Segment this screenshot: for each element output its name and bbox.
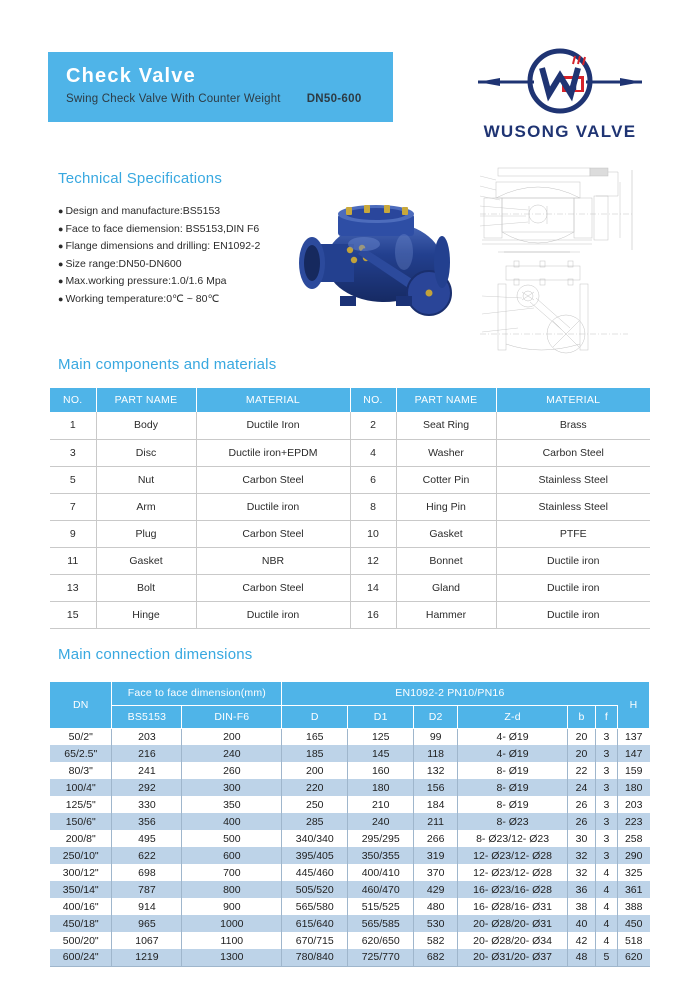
- cell-dn: 250/10": [50, 847, 112, 864]
- cell-d1: 240: [348, 813, 414, 830]
- logo-mark-icon: [470, 42, 650, 120]
- cell-no: 9: [50, 520, 96, 547]
- cell-f: 3: [595, 813, 617, 830]
- cell-no: 6: [350, 466, 396, 493]
- cell-part: Plug: [96, 520, 196, 547]
- components-table: NO. PART NAME MATERIAL NO. PART NAME MAT…: [50, 388, 650, 629]
- cell-d2: 132: [414, 762, 458, 779]
- cell-b: 32: [568, 847, 596, 864]
- table-row: 500/20" 1067 1100 670/715 620/650 582 20…: [50, 932, 650, 949]
- cell-d: 395/405: [282, 847, 348, 864]
- table-row: 7 Arm Ductile iron 8 Hing Pin Stainless …: [50, 493, 650, 520]
- cell-mat: Ductile iron: [496, 601, 650, 628]
- cell-d2: 682: [414, 949, 458, 966]
- cell-b: 30: [568, 830, 596, 847]
- cell-zd: 8- Ø23/12- Ø23: [458, 830, 568, 847]
- col-no-2: NO.: [350, 388, 396, 412]
- cell-din: 350: [182, 796, 282, 813]
- cell-d: 615/640: [282, 915, 348, 932]
- cell-d1: 160: [348, 762, 414, 779]
- table-row: 600/24" 1219 1300 780/840 725/770 682 20…: [50, 949, 650, 966]
- bullet-icon: ●: [58, 291, 63, 309]
- cell-zd: 16- Ø28/16- Ø31: [458, 898, 568, 915]
- cell-d1: 620/650: [348, 932, 414, 949]
- spec-item: ● Size range:DN50-DN600: [58, 256, 308, 274]
- cell-din: 260: [182, 762, 282, 779]
- cell-h: 290: [617, 847, 649, 864]
- col-part-1: PART NAME: [96, 388, 196, 412]
- cell-dn: 400/16": [50, 898, 112, 915]
- cell-part: Hing Pin: [396, 493, 496, 520]
- cell-bs: 330: [112, 796, 182, 813]
- table-row: 400/16" 914 900 565/580 515/525 480 16- …: [50, 898, 650, 915]
- col-f: f: [595, 705, 617, 728]
- cell-mat: Carbon Steel: [196, 520, 350, 547]
- col-mat-2: MATERIAL: [496, 388, 650, 412]
- cell-h: 450: [617, 915, 649, 932]
- cell-no: 2: [350, 412, 396, 439]
- cell-h: 361: [617, 881, 649, 898]
- cell-din: 200: [182, 728, 282, 745]
- cell-b: 36: [568, 881, 596, 898]
- product-photo: [292, 192, 468, 328]
- cell-mat: Ductile iron: [196, 493, 350, 520]
- cell-part: Disc: [96, 439, 196, 466]
- cell-dn: 300/12": [50, 864, 112, 881]
- table-row: 450/18" 965 1000 615/640 565/585 530 20-…: [50, 915, 650, 932]
- cell-dn: 200/8": [50, 830, 112, 847]
- cell-bs: 914: [112, 898, 182, 915]
- cell-din: 400: [182, 813, 282, 830]
- cell-zd: 12- Ø23/12- Ø28: [458, 864, 568, 881]
- cell-zd: 20- Ø28/20- Ø31: [458, 915, 568, 932]
- cell-f: 4: [595, 864, 617, 881]
- cell-d: 220: [282, 779, 348, 796]
- cell-f: 3: [595, 830, 617, 847]
- cell-zd: 20- Ø28/20- Ø34: [458, 932, 568, 949]
- cell-zd: 8- Ø23: [458, 813, 568, 830]
- cell-din: 800: [182, 881, 282, 898]
- cell-bs: 203: [112, 728, 182, 745]
- specifications-heading: Technical Specifications: [58, 170, 222, 187]
- dimensions-header-row-1: DN Face to face dimension(mm) EN1092-2 P…: [50, 682, 650, 705]
- cell-din: 600: [182, 847, 282, 864]
- cell-zd: 4- Ø19: [458, 728, 568, 745]
- cell-d: 250: [282, 796, 348, 813]
- cell-d1: 350/355: [348, 847, 414, 864]
- table-row: 13 Bolt Carbon Steel 14 Gland Ductile ir…: [50, 574, 650, 601]
- cell-b: 40: [568, 915, 596, 932]
- cell-zd: 12- Ø23/12- Ø28: [458, 847, 568, 864]
- cell-d1: 295/295: [348, 830, 414, 847]
- cell-h: 258: [617, 830, 649, 847]
- cell-dn: 80/3": [50, 762, 112, 779]
- cell-no: 4: [350, 439, 396, 466]
- cell-part: Nut: [96, 466, 196, 493]
- bullet-icon: ●: [58, 273, 63, 291]
- cell-d2: 370: [414, 864, 458, 881]
- cell-b: 22: [568, 762, 596, 779]
- cell-d: 185: [282, 745, 348, 762]
- dimensions-header-row-2: BS5153 DIN-F6 D D1 D2 Z-d b f: [50, 705, 650, 728]
- cell-b: 32: [568, 864, 596, 881]
- cell-bs: 622: [112, 847, 182, 864]
- cell-no: 11: [50, 547, 96, 574]
- cell-f: 3: [595, 728, 617, 745]
- table-row: 5 Nut Carbon Steel 6 Cotter Pin Stainles…: [50, 466, 650, 493]
- spec-text: Working temperature:0℃ ~ 80℃: [65, 291, 219, 309]
- table-row: 150/6" 356 400 285 240 211 8- Ø23 26 3 2…: [50, 813, 650, 830]
- cell-d2: 211: [414, 813, 458, 830]
- cell-f: 4: [595, 898, 617, 915]
- cell-mat: Ductile Iron: [196, 412, 350, 439]
- sectional-drawing: [472, 162, 648, 262]
- spec-text: Max.working pressure:1.0/1.6 Mpa: [65, 273, 226, 291]
- cell-d2: 582: [414, 932, 458, 949]
- cell-d2: 156: [414, 779, 458, 796]
- cell-mat: PTFE: [496, 520, 650, 547]
- table-row: 250/10" 622 600 395/405 350/355 319 12- …: [50, 847, 650, 864]
- cell-f: 4: [595, 915, 617, 932]
- cell-dn: 100/4": [50, 779, 112, 796]
- title-banner: Check Valve Swing Check Valve With Count…: [48, 52, 393, 122]
- cell-b: 24: [568, 779, 596, 796]
- cell-mat: Ductile iron: [196, 601, 350, 628]
- spec-text: Flange dimensions and drilling: EN1092-2: [65, 238, 260, 256]
- col-part-2: PART NAME: [396, 388, 496, 412]
- cell-d: 445/460: [282, 864, 348, 881]
- cell-d: 340/340: [282, 830, 348, 847]
- cell-zd: 4- Ø19: [458, 745, 568, 762]
- cell-b: 26: [568, 813, 596, 830]
- cell-dn: 150/6": [50, 813, 112, 830]
- table-row: 1 Body Ductile Iron 2 Seat Ring Brass: [50, 412, 650, 439]
- cell-d: 565/580: [282, 898, 348, 915]
- cell-f: 3: [595, 745, 617, 762]
- page-title: Check Valve: [66, 64, 393, 88]
- bullet-icon: ●: [58, 238, 63, 256]
- cell-d: 670/715: [282, 932, 348, 949]
- cell-part: Arm: [96, 493, 196, 520]
- cell-bs: 965: [112, 915, 182, 932]
- table-row: 15 Hinge Ductile iron 16 Hammer Ductile …: [50, 601, 650, 628]
- company-logo: WUSONG VALVE: [470, 42, 650, 142]
- cell-f: 5: [595, 949, 617, 966]
- cell-d: 285: [282, 813, 348, 830]
- cell-din: 1100: [182, 932, 282, 949]
- col-no-1: NO.: [50, 388, 96, 412]
- cell-part: Cotter Pin: [396, 466, 496, 493]
- cell-din: 240: [182, 745, 282, 762]
- banner-subtitle-row: Swing Check Valve With Counter Weight DN…: [66, 93, 393, 105]
- col-d2: D2: [414, 705, 458, 728]
- table-row: 125/5" 330 350 250 210 184 8- Ø19 26 3 2…: [50, 796, 650, 813]
- col-mat-1: MATERIAL: [196, 388, 350, 412]
- cell-part: Hinge: [96, 601, 196, 628]
- cell-no: 13: [50, 574, 96, 601]
- spec-item: ● Face to face diemension: BS5153,DIN F6: [58, 221, 308, 239]
- cell-dn: 450/18": [50, 915, 112, 932]
- cell-d1: 210: [348, 796, 414, 813]
- cell-bs: 241: [112, 762, 182, 779]
- cell-dn: 500/20": [50, 932, 112, 949]
- cell-h: 223: [617, 813, 649, 830]
- cell-zd: 8- Ø19: [458, 762, 568, 779]
- cell-part: Body: [96, 412, 196, 439]
- col-din-f6: DIN-F6: [182, 705, 282, 728]
- cell-bs: 1067: [112, 932, 182, 949]
- cell-b: 38: [568, 898, 596, 915]
- cell-d1: 565/585: [348, 915, 414, 932]
- table-row: 9 Plug Carbon Steel 10 Gasket PTFE: [50, 520, 650, 547]
- side-view-drawing: [478, 248, 644, 356]
- cell-b: 26: [568, 796, 596, 813]
- cell-d: 505/520: [282, 881, 348, 898]
- col-b: b: [568, 705, 596, 728]
- cell-zd: 16- Ø23/16- Ø28: [458, 881, 568, 898]
- cell-mat: Carbon Steel: [196, 466, 350, 493]
- cell-no: 12: [350, 547, 396, 574]
- cell-h: 388: [617, 898, 649, 915]
- cell-d2: 530: [414, 915, 458, 932]
- table-row: 11 Gasket NBR 12 Bonnet Ductile iron: [50, 547, 650, 574]
- bullet-icon: ●: [58, 221, 63, 239]
- cell-no: 16: [350, 601, 396, 628]
- cell-mat: Ductile iron: [496, 574, 650, 601]
- cell-no: 15: [50, 601, 96, 628]
- table-row: 50/2" 203 200 165 125 99 4- Ø19 20 3 137: [50, 728, 650, 745]
- cell-d1: 180: [348, 779, 414, 796]
- cell-h: 518: [617, 932, 649, 949]
- cell-h: 203: [617, 796, 649, 813]
- cell-d2: 184: [414, 796, 458, 813]
- cell-d1: 515/525: [348, 898, 414, 915]
- cell-no: 5: [50, 466, 96, 493]
- col-group-face: Face to face dimension(mm): [112, 682, 282, 705]
- cell-f: 3: [595, 762, 617, 779]
- spec-item: ● Design and manufacture:BS5153: [58, 203, 308, 221]
- cell-f: 3: [595, 796, 617, 813]
- cell-no: 3: [50, 439, 96, 466]
- table-row: 65/2.5" 216 240 185 145 118 4- Ø19 20 3 …: [50, 745, 650, 762]
- table-row: 3 Disc Ductile iron+EPDM 4 Washer Carbon…: [50, 439, 650, 466]
- cell-bs: 698: [112, 864, 182, 881]
- cell-h: 620: [617, 949, 649, 966]
- bullet-icon: ●: [58, 203, 63, 221]
- cell-b: 48: [568, 949, 596, 966]
- table-row: 350/14" 787 800 505/520 460/470 429 16- …: [50, 881, 650, 898]
- spec-text: Face to face diemension: BS5153,DIN F6: [65, 221, 259, 239]
- table-row: 80/3" 241 260 200 160 132 8- Ø19 22 3 15…: [50, 762, 650, 779]
- cell-bs: 1219: [112, 949, 182, 966]
- col-d1: D1: [348, 705, 414, 728]
- cell-mat: Ductile iron: [496, 547, 650, 574]
- cell-d1: 400/410: [348, 864, 414, 881]
- cell-bs: 495: [112, 830, 182, 847]
- cell-part: Washer: [396, 439, 496, 466]
- cell-f: 3: [595, 847, 617, 864]
- cell-d2: 480: [414, 898, 458, 915]
- dimensions-table: DN Face to face dimension(mm) EN1092-2 P…: [50, 682, 650, 967]
- banner-subtitle: Swing Check Valve With Counter Weight: [66, 93, 281, 105]
- cell-h: 159: [617, 762, 649, 779]
- spec-item: ● Working temperature:0℃ ~ 80℃: [58, 291, 308, 309]
- cell-h: 137: [617, 728, 649, 745]
- dimensions-heading: Main connection dimensions: [58, 646, 252, 663]
- cell-dn: 600/24": [50, 949, 112, 966]
- cell-d2: 319: [414, 847, 458, 864]
- col-group-en: EN1092-2 PN10/PN16: [282, 682, 618, 705]
- cell-d2: 118: [414, 745, 458, 762]
- cell-d2: 266: [414, 830, 458, 847]
- cell-no: 1: [50, 412, 96, 439]
- col-d: D: [282, 705, 348, 728]
- cell-part: Bolt: [96, 574, 196, 601]
- cell-f: 4: [595, 932, 617, 949]
- table-row: 300/12" 698 700 445/460 400/410 370 12- …: [50, 864, 650, 881]
- cell-part: Gland: [396, 574, 496, 601]
- col-h: H: [617, 682, 649, 728]
- spec-item: ● Max.working pressure:1.0/1.6 Mpa: [58, 273, 308, 291]
- cell-b: 42: [568, 932, 596, 949]
- cell-part: Gasket: [396, 520, 496, 547]
- components-heading: Main components and materials: [58, 356, 276, 373]
- bullet-icon: ●: [58, 256, 63, 274]
- cell-part: Seat Ring: [396, 412, 496, 439]
- cell-no: 8: [350, 493, 396, 520]
- cell-no: 10: [350, 520, 396, 547]
- cell-din: 900: [182, 898, 282, 915]
- cell-d2: 99: [414, 728, 458, 745]
- table-row: 100/4" 292 300 220 180 156 8- Ø19 24 3 1…: [50, 779, 650, 796]
- cell-d1: 460/470: [348, 881, 414, 898]
- cell-din: 500: [182, 830, 282, 847]
- cell-part: Gasket: [96, 547, 196, 574]
- cell-d: 165: [282, 728, 348, 745]
- spec-text: Size range:DN50-DN600: [65, 256, 181, 274]
- cell-mat: NBR: [196, 547, 350, 574]
- cell-f: 4: [595, 881, 617, 898]
- cell-dn: 65/2.5": [50, 745, 112, 762]
- cell-bs: 787: [112, 881, 182, 898]
- cell-dn: 50/2": [50, 728, 112, 745]
- cell-no: 14: [350, 574, 396, 601]
- specifications-list: ● Design and manufacture:BS5153 ● Face t…: [58, 203, 308, 308]
- cell-mat: Carbon Steel: [196, 574, 350, 601]
- cell-d2: 429: [414, 881, 458, 898]
- cell-mat: Brass: [496, 412, 650, 439]
- cell-mat: Carbon Steel: [496, 439, 650, 466]
- col-bs5153: BS5153: [112, 705, 182, 728]
- banner-size-range: DN50-600: [307, 93, 362, 105]
- col-dn: DN: [50, 682, 112, 728]
- cell-din: 1300: [182, 949, 282, 966]
- cell-dn: 125/5": [50, 796, 112, 813]
- cell-din: 700: [182, 864, 282, 881]
- cell-zd: 20- Ø31/20- Ø37: [458, 949, 568, 966]
- company-name: WUSONG VALVE: [470, 122, 650, 142]
- spec-item: ● Flange dimensions and drilling: EN1092…: [58, 238, 308, 256]
- cell-d1: 725/770: [348, 949, 414, 966]
- spec-text: Design and manufacture:BS5153: [65, 203, 220, 221]
- cell-h: 180: [617, 779, 649, 796]
- table-row: 200/8" 495 500 340/340 295/295 266 8- Ø2…: [50, 830, 650, 847]
- cell-b: 20: [568, 728, 596, 745]
- cell-part: Hammer: [396, 601, 496, 628]
- cell-mat: Stainless Steel: [496, 466, 650, 493]
- cell-b: 20: [568, 745, 596, 762]
- cell-d: 780/840: [282, 949, 348, 966]
- cell-d1: 145: [348, 745, 414, 762]
- cell-dn: 350/14": [50, 881, 112, 898]
- cell-bs: 216: [112, 745, 182, 762]
- cell-h: 147: [617, 745, 649, 762]
- cell-din: 300: [182, 779, 282, 796]
- cell-zd: 8- Ø19: [458, 796, 568, 813]
- cell-h: 325: [617, 864, 649, 881]
- cell-din: 1000: [182, 915, 282, 932]
- cell-d1: 125: [348, 728, 414, 745]
- cell-d: 200: [282, 762, 348, 779]
- cell-bs: 356: [112, 813, 182, 830]
- cell-mat: Ductile iron+EPDM: [196, 439, 350, 466]
- page-header: Check Valve Swing Check Valve With Count…: [0, 0, 700, 160]
- components-header-row: NO. PART NAME MATERIAL NO. PART NAME MAT…: [50, 388, 650, 412]
- cell-f: 3: [595, 779, 617, 796]
- cell-no: 7: [50, 493, 96, 520]
- cell-zd: 8- Ø19: [458, 779, 568, 796]
- cell-bs: 292: [112, 779, 182, 796]
- cell-mat: Stainless Steel: [496, 493, 650, 520]
- cell-part: Bonnet: [396, 547, 496, 574]
- col-zd: Z-d: [458, 705, 568, 728]
